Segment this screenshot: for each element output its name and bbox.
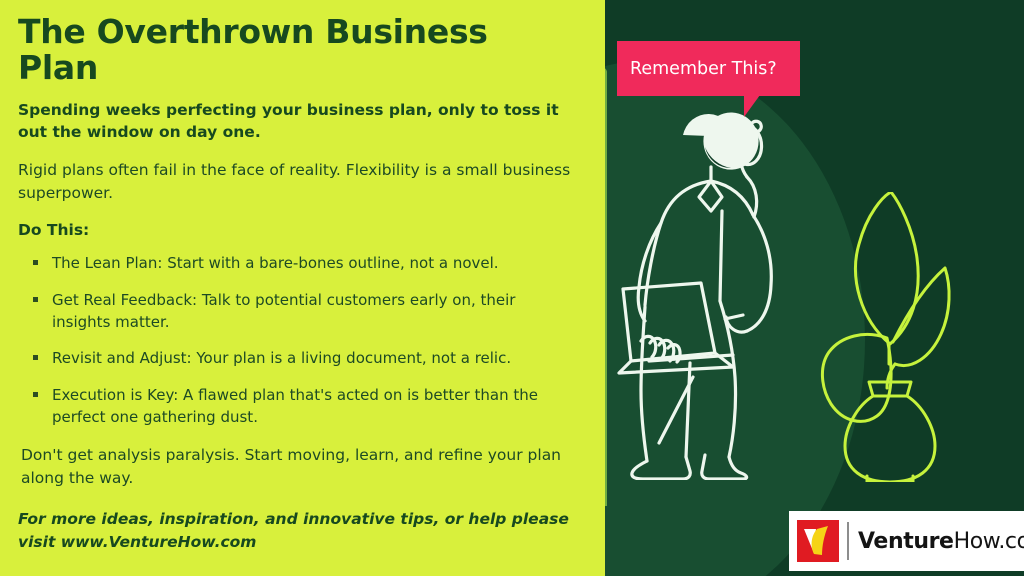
body-paragraph: Rigid plans often fail in the face of re… (18, 159, 574, 206)
content-stack: The Overthrown Business Plan Spending we… (18, 14, 574, 553)
footer-note: For more ideas, inspiration, and innovat… (18, 508, 574, 553)
list-item: The Lean Plan: Start with a bare-bones o… (18, 253, 574, 275)
brand-logo[interactable]: VentureHow.com (789, 511, 1024, 571)
venturehow-mark-icon (797, 520, 839, 562)
list-item: Get Real Feedback: Talk to potential cus… (18, 290, 574, 334)
do-this-heading: Do This: (18, 221, 574, 239)
tips-list: The Lean Plan: Start with a bare-bones o… (18, 253, 574, 429)
person-illustration (613, 105, 838, 480)
slide-canvas: Remember This? The Overthrown Business P… (0, 0, 1024, 576)
logo-brand-bold: Venture (858, 529, 954, 554)
logo-brand-light: How.com (954, 529, 1024, 554)
square-bullet-icon (33, 297, 38, 302)
list-item-label: Revisit and Adjust: Your plan is a livin… (52, 349, 511, 367)
list-item-label: Execution is Key: A flawed plan that's a… (52, 386, 538, 426)
square-bullet-icon (33, 355, 38, 360)
logo-divider (847, 522, 849, 560)
list-item: Revisit and Adjust: Your plan is a livin… (18, 348, 574, 370)
callout-tail-icon (744, 95, 772, 117)
closing-paragraph: Don't get analysis paralysis. Start movi… (21, 444, 574, 491)
list-item-label: Get Real Feedback: Talk to potential cus… (52, 291, 515, 331)
list-item-label: The Lean Plan: Start with a bare-bones o… (52, 254, 499, 272)
callout-label: Remember This? (617, 41, 800, 96)
list-item: Execution is Key: A flawed plan that's a… (18, 385, 574, 429)
callout-bubble[interactable]: Remember This? (617, 41, 800, 96)
plant-illustration (815, 192, 965, 482)
subtitle-text: Spending weeks perfecting your business … (18, 99, 574, 143)
square-bullet-icon (33, 392, 38, 397)
logo-wordmark: VentureHow.com (858, 529, 1024, 554)
square-bullet-icon (33, 260, 38, 265)
page-title: The Overthrown Business Plan (18, 14, 574, 87)
